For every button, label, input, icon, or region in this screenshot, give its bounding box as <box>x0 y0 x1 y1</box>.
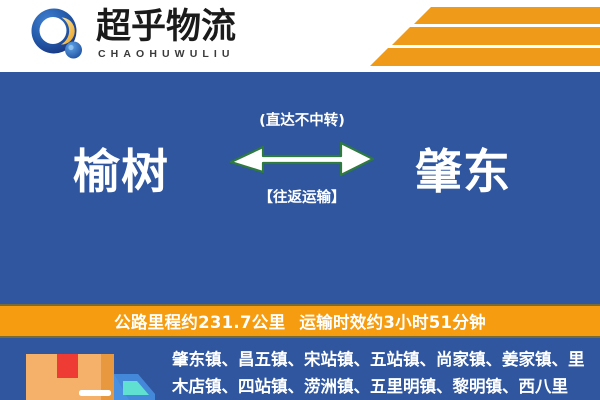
route-distance: 公路里程约231.7公里 <box>114 309 285 333</box>
delivery-truck-icon <box>18 344 168 400</box>
route-arrow-group: (直达不中转) 【往返运输】 <box>222 110 382 228</box>
brand-wordmark: 超乎物流 CHAOHUWULIU <box>96 10 236 61</box>
bidirectional-arrow-icon <box>227 135 377 184</box>
destination-city: 肇东 <box>378 112 548 222</box>
direct-service-note: (直达不中转) <box>259 114 345 129</box>
round-trip-note: 【往返运输】 <box>259 191 346 206</box>
route-duration: 运输时效约3小时51分钟 <box>299 309 486 333</box>
decorative-speed-stripes <box>330 7 600 67</box>
coverage-area-list: 肇东镇、昌五镇、宋站镇、五站镇、尚家镇、姜家镇、里木店镇、四站镇、涝洲镇、五里明… <box>172 347 590 400</box>
route-info-bar: 公路里程约231.7公里 运输时效约3小时51分钟 <box>0 304 600 338</box>
circular-q-logistics-logo-icon <box>28 6 86 64</box>
brand-name-cn: 超乎物流 <box>96 10 236 46</box>
brand-logo-block: 超乎物流 CHAOHUWULIU <box>28 6 236 64</box>
logistics-route-banner: 超乎物流 CHAOHUWULIU 榆树 (直达不中转) <box>0 0 600 400</box>
banner-body: 榆树 (直达不中转) 【往返运输】 肇东 公路里程约231.7公里 运输时效约3… <box>0 72 600 400</box>
origin-city: 榆树 <box>36 112 206 222</box>
brand-name-pinyin: CHAOHUWULIU <box>98 48 236 60</box>
route-display: 榆树 (直达不中转) 【往返运输】 肇东 <box>0 112 600 222</box>
banner-header: 超乎物流 CHAOHUWULIU <box>0 0 600 72</box>
